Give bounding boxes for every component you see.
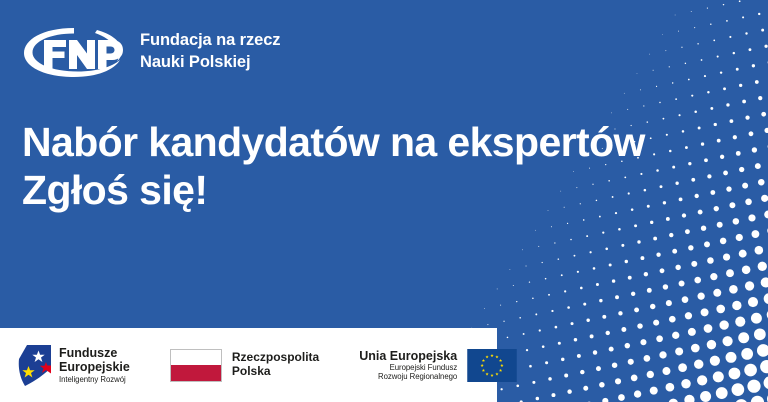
poland-flag-white-stripe: [171, 350, 221, 366]
headline-line-2: Zgłoś się!: [22, 166, 645, 214]
logo-fundusze-europejskie: Fundusze Europejskie Inteligentny Rozwój: [18, 345, 130, 386]
ue-title: Unia Europejska: [359, 349, 457, 364]
fnp-logo-icon: [22, 25, 126, 79]
fnp-logo-text-line1: Fundacja na rzecz: [140, 31, 280, 49]
logo-rzeczpospolita-polska: Rzeczpospolita Polska: [170, 349, 319, 382]
rzeczpospolita-polska-text: Rzeczpospolita Polska: [232, 351, 319, 379]
fnp-logo-text-line2: Nauki Polskiej: [140, 53, 250, 71]
fe-title-line1: Fundusze: [59, 346, 130, 361]
fnp-logo-lockup: Fundacja na rzecz Nauki Polskiej: [22, 22, 280, 82]
logo-unia-europejska: Unia Europejska Europejski Fundusz Rozwo…: [359, 349, 517, 382]
headline: Nabór kandydatów na ekspertów Zgłoś się!: [22, 118, 645, 215]
fe-title-line2: Europejskie: [59, 360, 130, 375]
fundusze-europejskie-text: Fundusze Europejskie Inteligentny Rozwój: [59, 346, 130, 384]
poland-flag-icon: [170, 349, 222, 382]
ue-subtitle-line1: Europejski Fundusz: [359, 363, 457, 372]
fundusze-europejskie-icon: [18, 345, 51, 386]
rp-title-line1: Rzeczpospolita: [232, 351, 319, 365]
unia-europejska-text: Unia Europejska Europejski Fundusz Rozwo…: [359, 349, 457, 382]
eu-flag-icon: [467, 349, 517, 382]
promo-banner: Fundacja na rzecz Nauki Polskiej Nabór k…: [0, 0, 768, 402]
headline-line-1: Nabór kandydatów na ekspertów: [22, 118, 645, 166]
fe-subtitle: Inteligentny Rozwój: [59, 375, 130, 384]
poland-flag-red-stripe: [171, 365, 221, 381]
fnp-logo-text: Fundacja na rzecz Nauki Polskiej: [140, 30, 280, 74]
funding-logos-bar: Fundusze Europejskie Inteligentny Rozwój…: [0, 328, 497, 402]
ue-subtitle-line2: Rozwoju Regionalnego: [359, 372, 457, 381]
rp-title-line2: Polska: [232, 365, 319, 379]
